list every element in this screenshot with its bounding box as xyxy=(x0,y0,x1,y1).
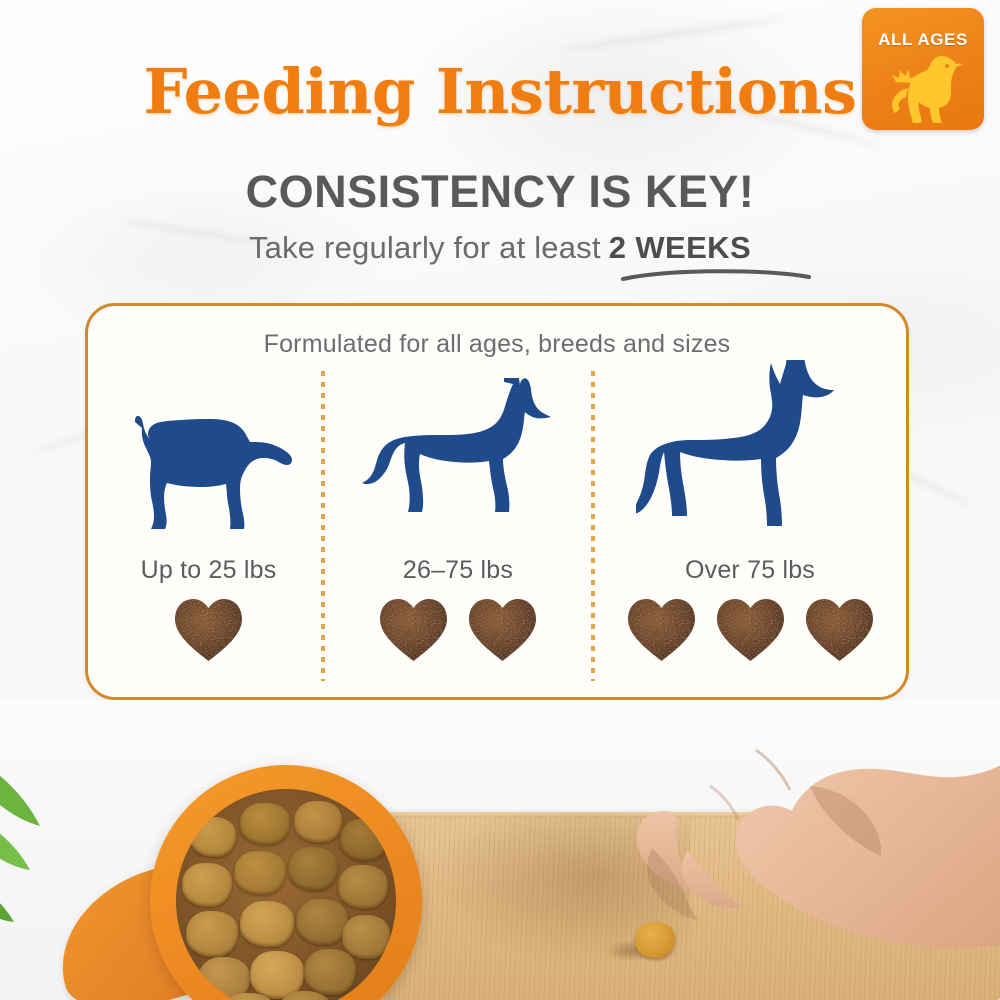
small-dog-silhouette-icon xyxy=(96,406,321,536)
kibble-piece xyxy=(234,851,286,895)
kibble-piece xyxy=(304,949,356,995)
product-photo xyxy=(0,700,1000,1000)
weight-label-large: Over 75 lbs xyxy=(595,556,905,585)
card-caption: Formulated for all ages, breeds and size… xyxy=(88,330,906,359)
heart-treat-icon xyxy=(802,594,877,664)
treat-row-small xyxy=(96,594,321,664)
kibble-piece xyxy=(296,899,348,945)
kibble-piece xyxy=(190,817,236,857)
heart-treat-icon xyxy=(713,594,788,664)
tagline-plain-text: Take regularly for at least xyxy=(249,230,601,265)
kibble-piece xyxy=(288,847,338,891)
tagline-strong-text: 2 WEEKS xyxy=(609,230,751,265)
hand-holding-kibble xyxy=(560,700,1000,960)
feeding-chart-card: Formulated for all ages, breeds and size… xyxy=(85,303,909,700)
weight-label-medium: 26–75 lbs xyxy=(325,556,591,585)
large-dog-silhouette-icon xyxy=(595,358,905,536)
tagline: Take regularly for at least2 WEEKS xyxy=(0,230,1000,266)
orange-bowl xyxy=(150,765,422,1000)
size-column-medium: 26–75 lbs xyxy=(325,366,591,686)
kibble-piece xyxy=(186,911,238,957)
kibble-piece xyxy=(294,801,342,843)
kibble-piece xyxy=(340,819,388,861)
kibble-piece xyxy=(240,803,290,845)
medium-dog-silhouette-icon xyxy=(325,376,591,536)
treat-row-medium xyxy=(325,594,591,664)
subtitle-consistency: CONSISTENCY IS KEY! xyxy=(0,166,1000,218)
underline-swoosh-icon xyxy=(621,266,811,282)
kibble-piece xyxy=(338,865,388,909)
kibble-piece xyxy=(182,863,232,907)
kibble-piece xyxy=(240,901,294,947)
heart-treat-icon xyxy=(465,594,540,664)
heart-treat-icon xyxy=(376,594,451,664)
badge-label: ALL AGES xyxy=(862,30,984,50)
treat-row-large xyxy=(595,594,905,664)
weight-label-small: Up to 25 lbs xyxy=(96,556,321,585)
feeding-instructions-infographic: ALL AGES Feeding Instructions CONSISTENC… xyxy=(0,0,1000,1000)
size-column-small: Up to 25 lbs xyxy=(96,366,321,686)
kibble-piece xyxy=(342,915,390,959)
bowl-interior xyxy=(176,789,396,1000)
size-column-large: Over 75 lbs xyxy=(595,366,905,686)
marble-vein xyxy=(561,14,790,54)
heart-treat-icon xyxy=(624,594,699,664)
page-title: Feeding Instructions xyxy=(0,55,1000,128)
heart-treat-icon xyxy=(171,594,246,664)
